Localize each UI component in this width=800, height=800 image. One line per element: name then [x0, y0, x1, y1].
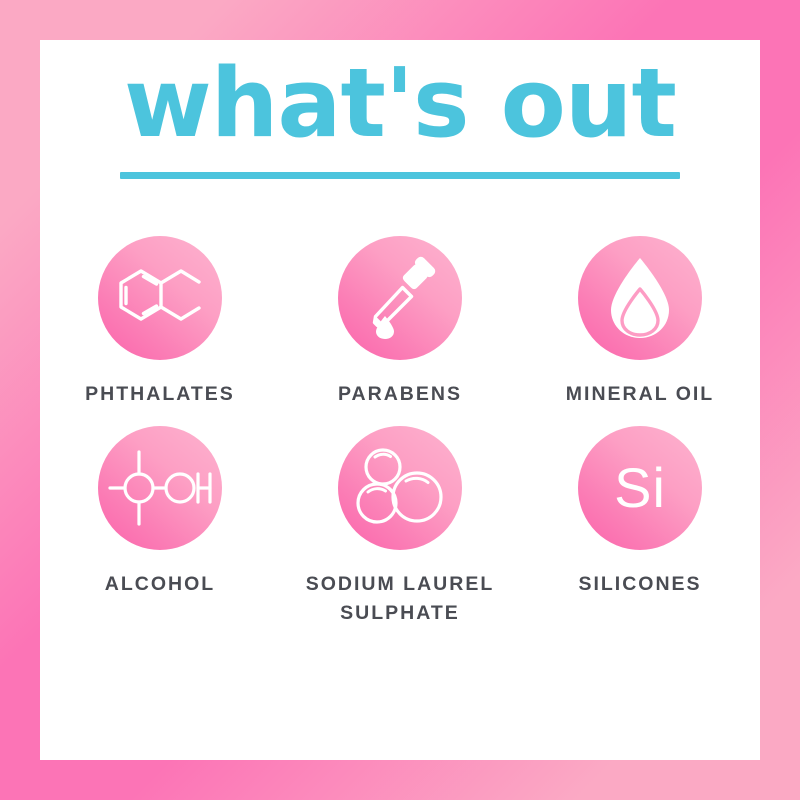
phthalates-icon-circle: [98, 236, 222, 360]
item-label: PARABENS: [338, 380, 462, 408]
silicon-symbol-icon: Si: [614, 460, 666, 516]
molecule-benzene-ring-icon: [117, 267, 203, 329]
item-label: MINERAL OIL: [566, 380, 714, 408]
grid-item-alcohol: ALCOHOL: [40, 426, 280, 627]
title-divider: [120, 172, 680, 179]
item-label: SODIUM LAUREL SULPHATE: [295, 570, 505, 627]
grid-item-sls: SODIUM LAUREL SULPHATE: [280, 426, 520, 627]
grid-item-mineral-oil: MINERAL OIL: [520, 236, 760, 408]
ingredient-grid: PHTHALATES: [40, 236, 760, 627]
content-card: what's out: [40, 40, 760, 760]
grid-item-parabens: PARABENS: [280, 236, 520, 408]
bubbles-icon: [357, 448, 443, 528]
parabens-icon-circle: [338, 236, 462, 360]
mineral-oil-icon-circle: [578, 236, 702, 360]
page-title: what's out: [40, 57, 760, 152]
item-label: SILICONES: [578, 570, 701, 598]
alcohol-formula-icon: [108, 446, 212, 530]
item-label: PHTHALATES: [85, 380, 235, 408]
silicones-icon-circle: Si: [578, 426, 702, 550]
sls-icon-circle: [338, 426, 462, 550]
header: what's out: [40, 40, 760, 179]
grid-item-silicones: Si SILICONES: [520, 426, 760, 627]
alcohol-icon-circle: [98, 426, 222, 550]
item-label: ALCOHOL: [105, 570, 215, 598]
water-droplet-icon: [609, 257, 671, 339]
grid-item-phthalates: PHTHALATES: [40, 236, 280, 408]
dropper-pipette-icon: [361, 257, 439, 339]
